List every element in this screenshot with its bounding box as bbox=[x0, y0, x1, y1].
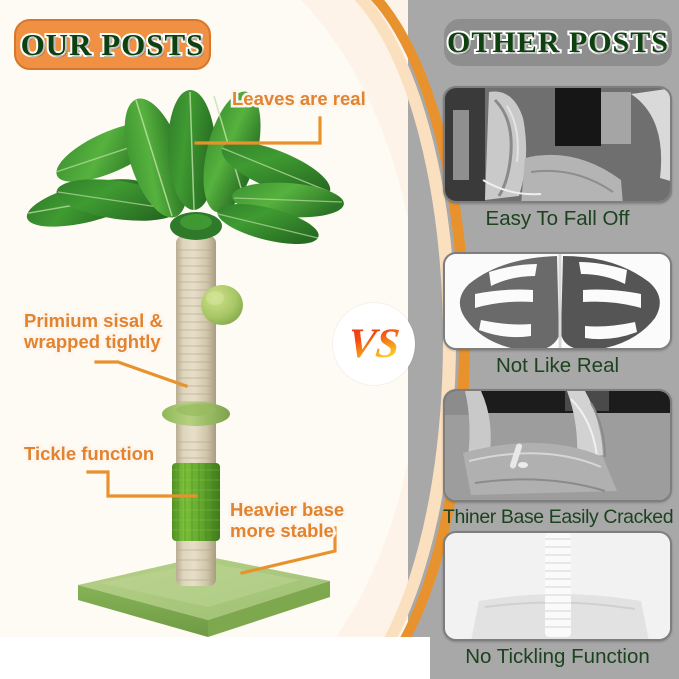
plain-white-post-photo bbox=[443, 531, 672, 641]
caption-thiner-base-easily-cracked: Thiner Base Easily Cracked bbox=[443, 506, 672, 529]
other-post-item-thin-base: Thiner Base Easily Cracked bbox=[443, 389, 672, 529]
worn-sisal-post-photo bbox=[443, 86, 672, 203]
callout-heavier-base: Heavier base more stable bbox=[230, 499, 344, 541]
bristle-brush-tickle-section bbox=[172, 463, 220, 541]
other-posts-badge-label: OTHER POSTS bbox=[447, 26, 669, 60]
palm-fronds bbox=[21, 86, 345, 252]
pom-pom-ball-toy bbox=[201, 285, 243, 325]
other-post-item-not-real: Not Like Real bbox=[443, 252, 672, 378]
vs-label: VS bbox=[346, 323, 402, 365]
caption-not-like-real: Not Like Real bbox=[443, 354, 672, 378]
other-post-item-no-tickling: No Tickling Function bbox=[443, 531, 672, 669]
caption-easy-to-fall-off: Easy To Fall Off bbox=[443, 207, 672, 231]
caption-no-tickling-function: No Tickling Function bbox=[443, 645, 672, 669]
green-ring-collar bbox=[162, 402, 230, 426]
callout-premium-sisal: Primium sisal & wrapped tightly bbox=[24, 310, 163, 352]
other-posts-badge: OTHER POSTS bbox=[444, 19, 672, 66]
cracked-thin-base-photo bbox=[443, 389, 672, 502]
other-post-item-fall-off: Easy To Fall Off bbox=[443, 86, 672, 231]
callout-leaves-are-real: Leaves are real bbox=[232, 88, 366, 109]
fake-monstera-leaves-photo bbox=[443, 252, 672, 350]
infographic-canvas: Leaves are real Primium sisal & wrapped … bbox=[0, 0, 679, 679]
callout-tickle-function: Tickle function bbox=[24, 443, 154, 464]
pointer-sisal bbox=[96, 362, 186, 386]
our-posts-badge-label: OUR POSTS bbox=[21, 27, 205, 63]
bottom-white-strip bbox=[0, 637, 430, 679]
vs-badge: VS bbox=[333, 303, 415, 385]
our-posts-badge: OUR POSTS bbox=[14, 19, 211, 70]
